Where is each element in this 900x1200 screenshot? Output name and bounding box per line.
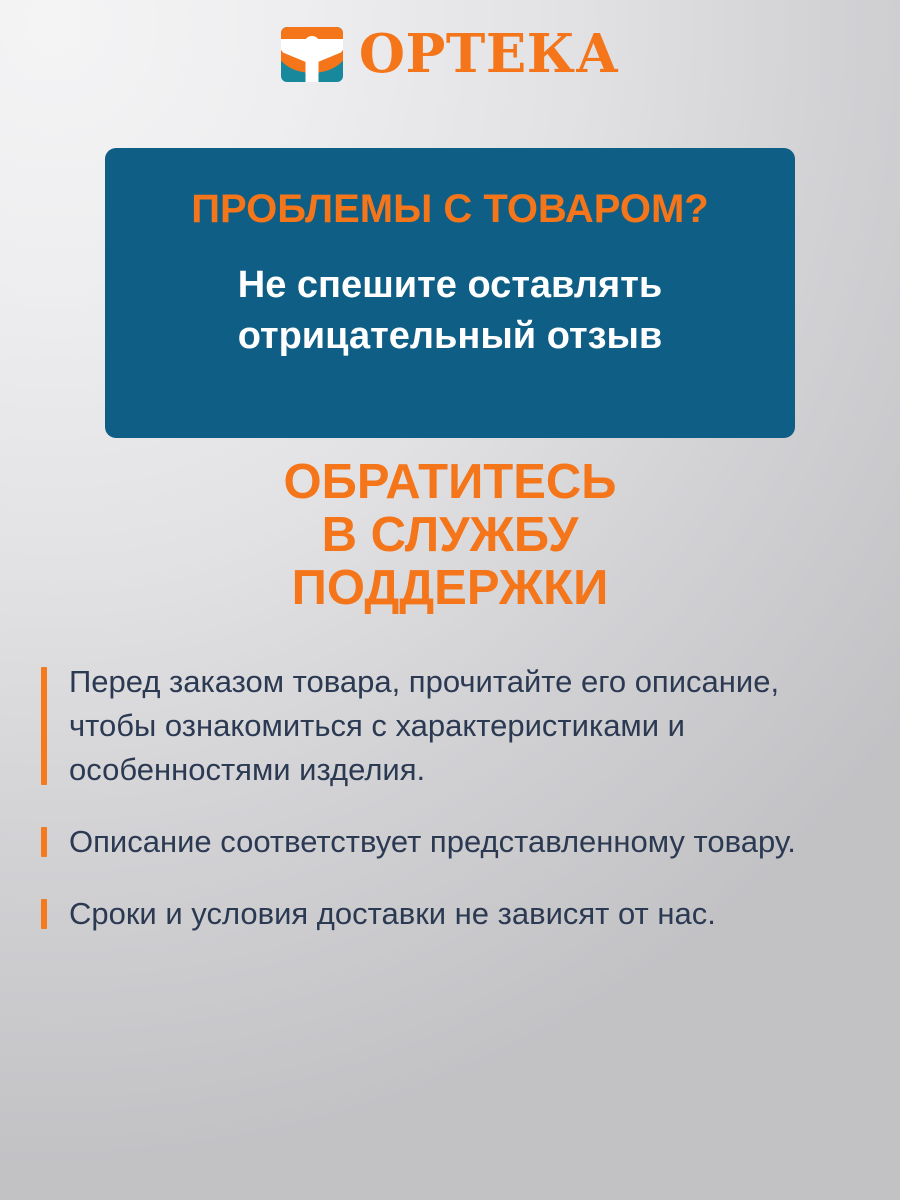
promo-card: ОРТЕКА ПРОБЛЕМЫ С ТОВАРОМ? Не спешите ос… (0, 0, 900, 1200)
list-item: Перед заказом товара, прочитайте его опи… (41, 660, 871, 792)
brand-wordmark: ОРТЕКА (359, 28, 619, 81)
callout-subtitle: Не спешите оставлять отрицательный отзыв (238, 260, 663, 361)
bullet-accent-bar (41, 667, 47, 785)
list-item-text: Сроки и условия доставки не зависят от н… (69, 892, 871, 936)
info-list: Перед заказом товара, прочитайте его опи… (41, 660, 871, 936)
brand-logo: ОРТЕКА (0, 18, 900, 90)
page-title-line-1: ОБРАТИТЕСЬ (0, 456, 900, 509)
bullet-accent-bar (41, 899, 47, 929)
list-item: Описание соответствует представленному т… (41, 820, 871, 864)
page-title-line-2: В СЛУЖБУ (0, 509, 900, 562)
callout-title: ПРОБЛЕМЫ С ТОВАРОМ? (191, 188, 708, 230)
callout-box: ПРОБЛЕМЫ С ТОВАРОМ? Не спешите оставлять… (105, 148, 795, 438)
callout-subtitle-line-1: Не спешите оставлять (238, 260, 663, 311)
callout-subtitle-line-2: отрицательный отзыв (238, 311, 663, 362)
logo-mark-head-shape (304, 36, 320, 52)
bullet-accent-bar (41, 827, 47, 857)
page-title: ОБРАТИТЕСЬ В СЛУЖБУ ПОДДЕРЖКИ (0, 456, 900, 615)
orteka-figure-logo-icon (281, 27, 343, 82)
list-item: Сроки и условия доставки не зависят от н… (41, 892, 871, 936)
list-item-text: Описание соответствует представленному т… (69, 820, 871, 864)
page-title-line-3: ПОДДЕРЖКИ (0, 562, 900, 615)
list-item-text: Перед заказом товара, прочитайте его опи… (69, 660, 871, 792)
